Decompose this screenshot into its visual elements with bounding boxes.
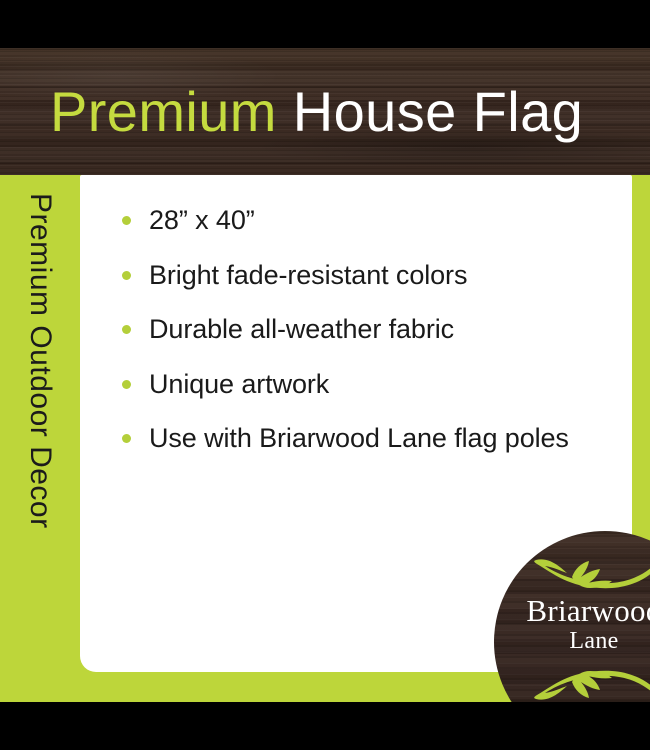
brand-name: Briarwood <box>508 595 650 627</box>
list-item-label: 28” x 40” <box>149 205 255 235</box>
wood-header-band: Premium House Flag <box>0 48 650 175</box>
list-item: Use with Briarwood Lane flag poles <box>122 421 616 456</box>
list-item: Durable all-weather fabric <box>122 312 616 347</box>
list-item: Unique artwork <box>122 367 616 402</box>
sidebar-vertical-label: Premium Outdoor Decor <box>23 193 57 529</box>
bullet-dot-icon <box>122 434 131 443</box>
product-feature-poster: Premium House Flag Premium Outdoor Decor… <box>0 0 650 750</box>
frame-bar-top <box>0 0 650 48</box>
brand-subname: Lane <box>508 628 650 654</box>
title-green-word: Premium <box>50 80 277 143</box>
leaf-branch-icon <box>531 666 650 706</box>
list-item: Bright fade-resistant colors <box>122 258 616 293</box>
page-title: Premium House Flag <box>50 84 583 140</box>
title-white-words: House Flag <box>277 80 583 143</box>
list-item-label: Unique artwork <box>149 369 329 399</box>
bullet-dot-icon <box>122 325 131 334</box>
leaf-branch-icon <box>531 553 650 593</box>
bullet-dot-icon <box>122 380 131 389</box>
bullet-dot-icon <box>122 271 131 280</box>
list-item-label: Bright fade-resistant colors <box>149 260 467 290</box>
bullet-dot-icon <box>122 216 131 225</box>
list-item-label: Durable all-weather fabric <box>149 314 454 344</box>
sidebar-vertical-band: Premium Outdoor Decor <box>0 175 80 702</box>
list-item-label: Use with Briarwood Lane flag poles <box>149 423 569 453</box>
features-list: 28” x 40” Bright fade-resistant colors D… <box>122 203 616 456</box>
frame-bar-bottom <box>0 702 650 750</box>
list-item: 28” x 40” <box>122 203 616 238</box>
